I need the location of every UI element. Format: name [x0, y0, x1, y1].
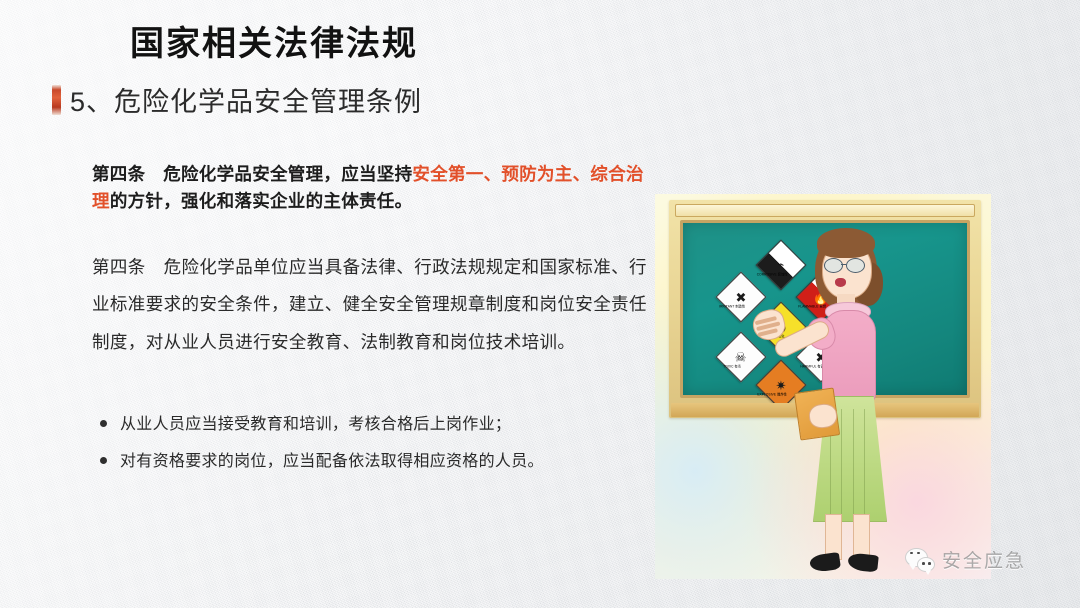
hazard-toxic-icon: ☠ TOXIC 有毒 — [716, 332, 767, 383]
hazard-symbol: ⌁ — [778, 260, 785, 271]
page-title: 国家相关法律法规 — [130, 16, 418, 65]
watermark-label: 安全应急 — [942, 546, 1026, 573]
body-text-block: 第四条 危险化学品安全管理，应当坚持安全第一、预防为主、综合治理的方针，强化和落… — [92, 143, 652, 379]
wechat-icon — [905, 548, 935, 572]
section-subtitle-label: 5、危险化学品安全管理条例 — [70, 80, 422, 119]
list-item-label: 对有资格要求的岗位，应当配备依法取得相应资格的人员。 — [120, 449, 544, 475]
teacher-hair-front — [817, 228, 875, 258]
watermark: 安全应急 — [905, 546, 1026, 573]
teacher-shoe-right — [847, 552, 879, 572]
subtitle-marker-icon — [52, 85, 61, 115]
list-item: 从业人员应当接受教育和培训，考核合格后上岗作业； — [100, 412, 640, 438]
hazard-symbol: ✷ — [776, 379, 787, 392]
hazard-label: IRRITANT 刺激性 — [715, 303, 749, 308]
teacher-shoe-left — [809, 552, 841, 573]
list-item: 对有资格要求的岗位，应当配备依法取得相应资格的人员。 — [100, 449, 640, 475]
bullet-list: 从业人员应当接受教育和培训，考核合格后上岗作业； 对有资格要求的岗位，应当配备依… — [100, 412, 640, 485]
para-tail: 的方针，强化和落实企业的主体责任。 — [110, 191, 413, 211]
illustration-image: ⌁ CORROSIVE 腐蚀性 ✖ IRRITANT 刺激性 🔥 FLAMMAB… — [655, 194, 991, 579]
article-four-highlighted: 第四条 危险化学品安全管理，应当坚持安全第一、预防为主、综合治理的方针，强化和落… — [92, 161, 652, 215]
article-four-plain: 第四条 危险化学品单位应当具备法律、行政法规规定和国家标准、行业标准要求的安全条… — [92, 249, 652, 361]
section-subtitle: 5、危险化学品安全管理条例 — [52, 80, 422, 119]
hazard-symbol: ✖ — [736, 291, 747, 304]
hazard-label: EXPLOSIVE 爆炸性 — [755, 391, 789, 396]
teacher-mouth — [835, 278, 846, 287]
para-lead: 第四条 危险化学品安全管理，应当坚持 — [92, 164, 412, 184]
teacher-glasses-icon — [822, 258, 870, 272]
teacher-figure-illustration — [791, 214, 921, 579]
presentation-slide: 国家相关法律法规 5、危险化学品安全管理条例 第四条 危险化学品安全管理，应当坚… — [0, 0, 1080, 608]
hazard-label: TOXIC 有毒 — [715, 363, 749, 368]
hazard-label: CORROSIVE 腐蚀性 — [755, 271, 789, 276]
hazard-symbol: ☠ — [735, 351, 747, 364]
bullet-dot-icon — [100, 457, 107, 464]
bullet-dot-icon — [100, 420, 107, 427]
list-item-label: 从业人员应当接受教育和培训，考核合格后上岗作业； — [120, 412, 511, 438]
